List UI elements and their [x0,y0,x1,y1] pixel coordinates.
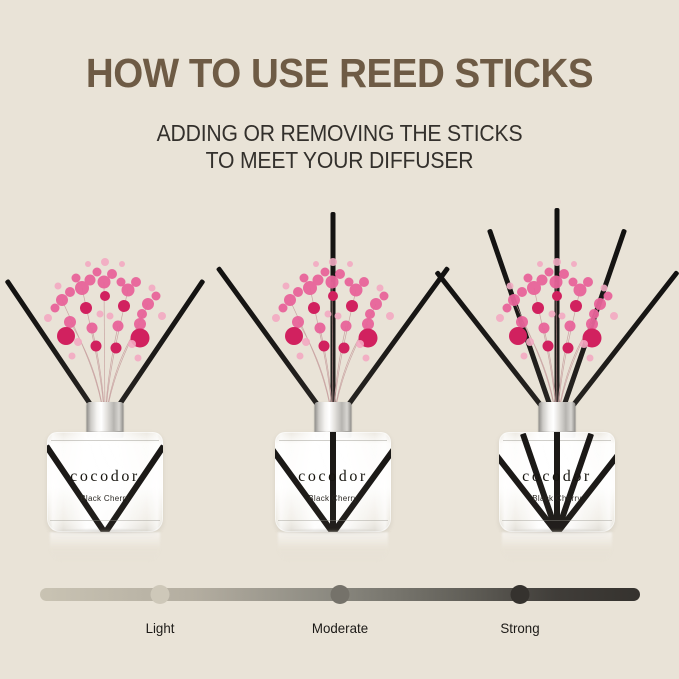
reed-stick-submerged [103,444,163,532]
subtitle-line-2: TO MEET YOUR DIFFUSER [27,147,652,174]
diffuser-row: cocodor Black Cherry [0,196,679,566]
diffuser-moderate: cocodor Black Cherry [228,196,438,566]
subtitle-line-1: ADDING OR REMOVING THE STICKS [27,120,652,147]
diffuser-bottle: cocodor Black Cherry [499,402,615,532]
bottle-reflection [502,532,612,562]
dried-flower-spray [452,196,662,426]
slider-label-strong: Strong [500,620,539,636]
bottle-scent-label: Black Cherry [499,494,615,503]
dried-flower-spray [0,196,210,426]
reed-stick-submerged [275,446,335,532]
slider-label-moderate: Moderate [312,620,368,636]
bottle-brand-label: cocodor [275,468,391,486]
bottle-brand-label: cocodor [47,468,163,486]
reed-arrangement-moderate [228,196,438,426]
bottle-scent-label: Black Cherry [275,494,391,503]
bottle-brand-label: cocodor [499,468,615,486]
reed-stick-submerged [331,446,391,532]
bottle-glass: cocodor Black Cherry [275,432,391,532]
bottle-reflection [50,532,160,562]
bottle-reflection [278,532,388,562]
slider-marker-moderate[interactable] [331,585,350,604]
bottle-cap [87,402,124,434]
bottle-cap [315,402,352,434]
page-subtitle: ADDING OR REMOVING THE STICKS TO MEET YO… [27,120,652,174]
intensity-slider[interactable] [40,585,640,603]
diffuser-bottle: cocodor Black Cherry [275,402,391,532]
dried-flower-spray [228,196,438,426]
bottle-cap [539,402,576,434]
infographic-canvas: HOW TO USE REED STICKS ADDING OR REMOVIN… [0,0,679,679]
page-title: HOW TO USE REED STICKS [20,50,658,96]
bottle-glass: cocodor Black Cherry [47,432,163,532]
bottle-glass: cocodor Black Cherry [499,432,615,532]
diffuser-bottle: cocodor Black Cherry [47,402,163,532]
diffuser-light: cocodor Black Cherry [0,196,210,566]
bottle-scent-label: Black Cherry [47,494,163,503]
reed-arrangement-light [0,196,210,426]
slider-marker-strong[interactable] [511,585,530,604]
diffuser-strong: cocodor Black Cherry [452,196,662,566]
slider-labels: Light Moderate Strong [0,620,679,642]
reed-arrangement-strong [452,196,662,426]
slider-label-light: Light [146,620,175,636]
slider-marker-light[interactable] [151,585,170,604]
reed-stick-submerged [47,444,107,532]
